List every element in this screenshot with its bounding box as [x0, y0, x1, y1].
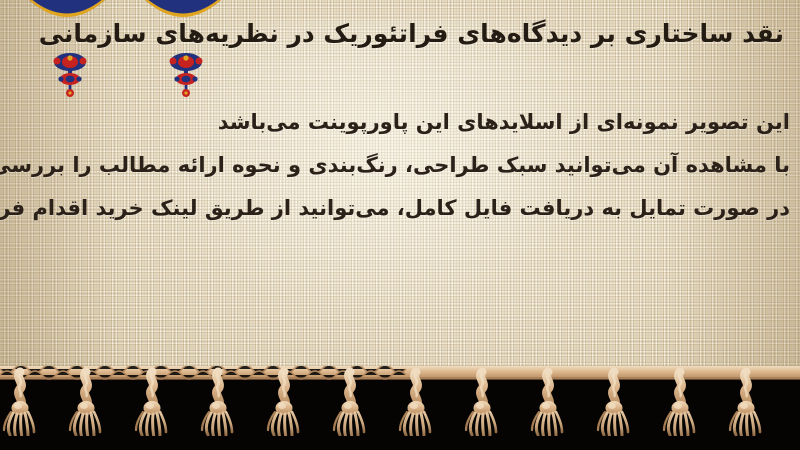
body-line-3: در صورت تمایل به دریافت فایل کامل، می‌تو… — [10, 198, 790, 219]
slide-title: نقد ساختاری بر دیدگاه‌های فراتئوریک در ن… — [24, 18, 784, 49]
body-line-2: با مشاهده آن می‌توانید سبک طراحی، رنگ‌بن… — [10, 155, 790, 176]
knotted-tassel-fringe — [0, 366, 800, 436]
slide-canvas: نقد ساختاری بر دیدگاه‌های فراتئوریک در ن… — [0, 0, 800, 450]
carpet-pendant-drop-right — [160, 52, 212, 104]
carpet-pendant-drop-left — [44, 52, 96, 104]
body-line-1: این تصویر نمونه‌ای از اسلایدهای این پاور… — [10, 112, 790, 133]
slide-body-text: این تصویر نمونه‌ای از اسلایدهای این پاور… — [10, 112, 790, 241]
tassel-row — [4, 372, 760, 436]
